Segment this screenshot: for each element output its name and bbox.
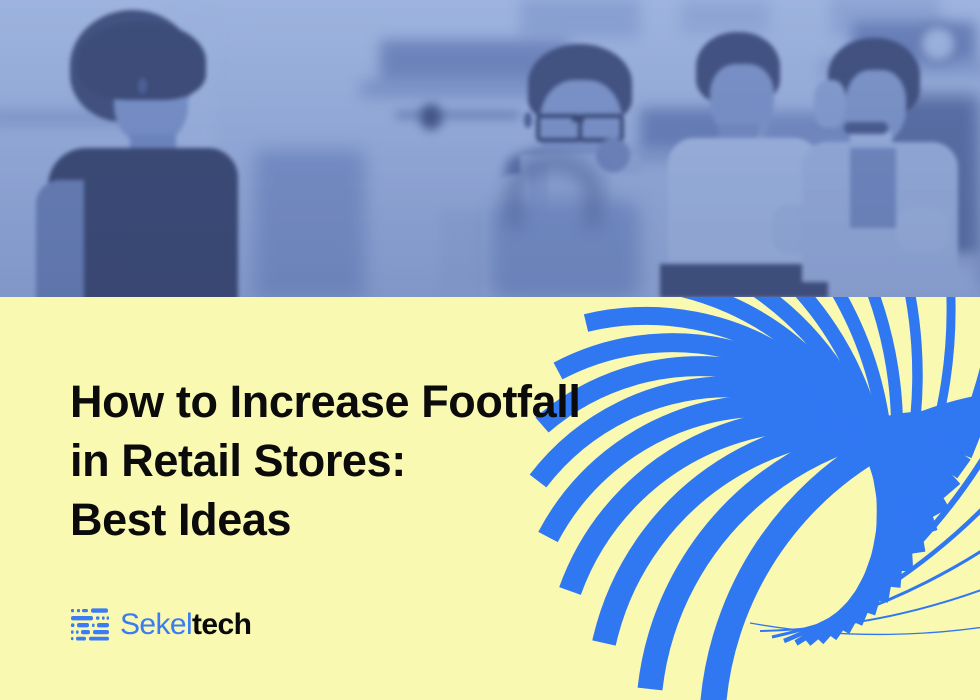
page-title: How to Increase Footfall in Retail Store… — [70, 372, 670, 549]
title-line-1: How to Increase Footfall — [70, 372, 670, 431]
sekeltech-logo[interactable]: Sekeltech — [70, 608, 251, 642]
title-line-2: in Retail Stores: — [70, 431, 670, 490]
shopper-woman-left — [18, 8, 278, 297]
wall-clock — [918, 24, 958, 64]
sekeltech-bars-mark — [70, 608, 110, 642]
foreground-bag-strap — [510, 158, 598, 227]
photo-scene — [0, 0, 980, 297]
retail-store-photo — [0, 0, 980, 297]
logo-brand-primary: Sekel — [120, 608, 192, 641]
shopper-man-right — [780, 36, 970, 276]
logo-brand-secondary: tech — [192, 608, 251, 641]
logo-wordmark: Sekeltech — [120, 610, 251, 640]
blog-cover-banner: How to Increase Footfall in Retail Store… — [0, 0, 980, 700]
wall-frame-1 — [520, 0, 640, 38]
title-line-3: Best Ideas — [70, 490, 670, 549]
